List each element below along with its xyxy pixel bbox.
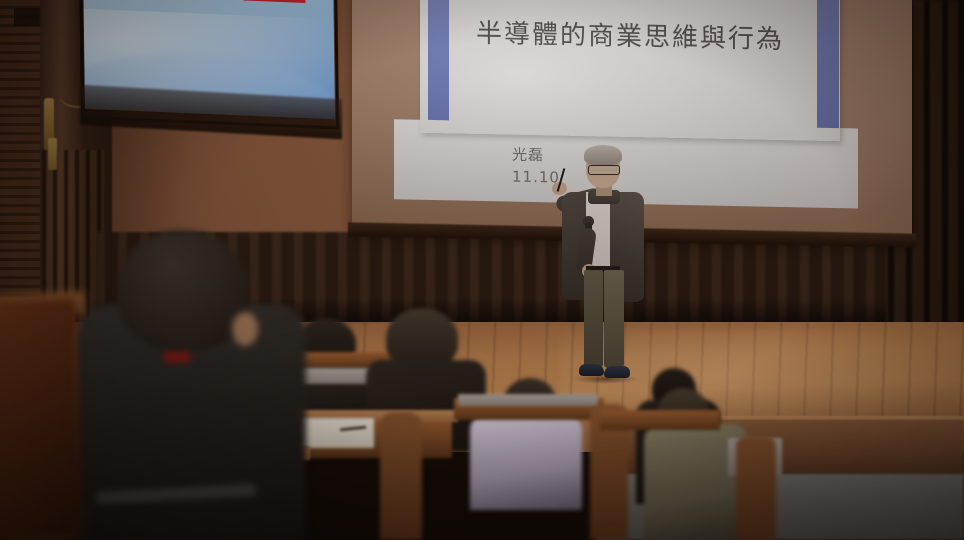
chair-back-mid [380,412,422,540]
foreground-attendee-head [118,230,248,350]
glasses-icon [588,165,620,175]
presenter [548,148,658,396]
chair-back-right [736,436,776,540]
attendee-torso [470,414,582,510]
desk-row-right [600,410,720,430]
presenter-trouser-left [584,270,603,368]
foreground-attendee-ear [232,312,258,346]
presenter-shoe-left [579,364,604,376]
foreground-desk [0,299,84,540]
curtain-tassel-lower-icon [48,138,57,170]
presenter-shoe-right [604,366,630,378]
sponsor-logo: tsmc [237,0,312,3]
presenter-trouser-right [604,270,624,368]
sponsor-underline [243,0,305,3]
jacket-logo-icon [164,352,190,362]
lecture-hall-photo: 半導體的商業思維與行為 光磊 11.10 龍華科技大學 tsmc [0,0,964,540]
desk-panel-center [458,394,598,406]
foreground-attendee [60,230,310,540]
presenter-hair [584,145,622,165]
